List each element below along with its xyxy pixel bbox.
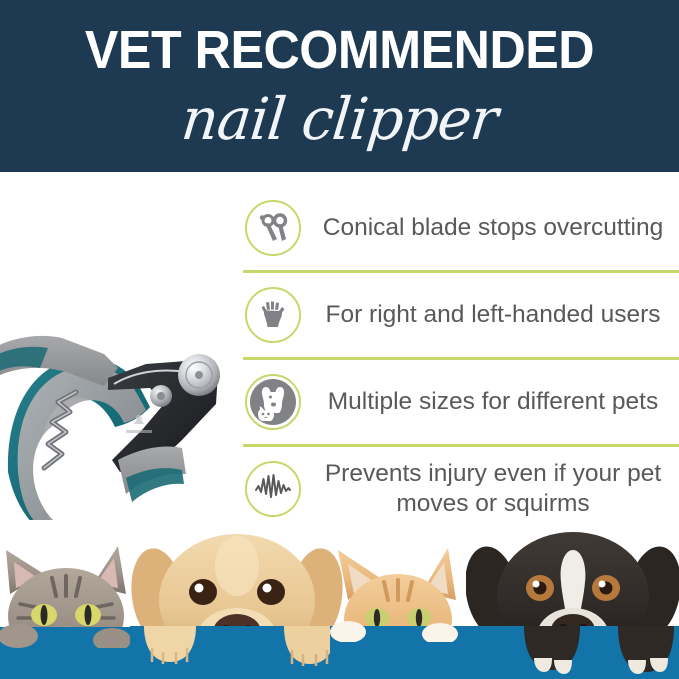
- product-infographic: VET RECOMMENDED nail clipper: [0, 0, 679, 679]
- tabby-cat: [0, 520, 146, 679]
- pets-strip: [0, 520, 679, 679]
- product-image: [0, 172, 240, 560]
- feature-text: For right and left-handed users: [301, 300, 679, 330]
- feature-text: Conical blade stops overcutting: [301, 213, 679, 243]
- knob-center: [195, 371, 203, 379]
- golden-retriever-puppy: [130, 520, 345, 679]
- feature-text: Multiple sizes for different pets: [301, 387, 679, 417]
- feature-row: For right and left-handed users: [240, 273, 679, 357]
- hand-icon: [245, 287, 301, 343]
- feature-row: Multiple sizes for different pets: [240, 360, 679, 444]
- feature-row: Prevents injury even if your pet moves o…: [240, 447, 679, 531]
- waveform-icon: [245, 461, 301, 517]
- nail-clipper-illustration: [0, 172, 240, 560]
- dog-cat-icon: [245, 374, 301, 430]
- feature-row: Conical blade stops overcutting: [240, 186, 679, 270]
- orange-cat: [330, 520, 470, 679]
- page-title: VET RECOMMENDED: [24, 21, 655, 79]
- pivot-rivet-center: [157, 392, 165, 400]
- feature-text: Prevents injury even if your pet moves o…: [301, 459, 679, 519]
- black-white-dog: [466, 520, 679, 679]
- page-subtitle: nail clipper: [3, 84, 676, 154]
- header-banner: VET RECOMMENDED nail clipper: [0, 0, 679, 172]
- clipper-icon: [245, 200, 301, 256]
- feature-list: Conical blade stops overcutting For righ…: [240, 186, 679, 532]
